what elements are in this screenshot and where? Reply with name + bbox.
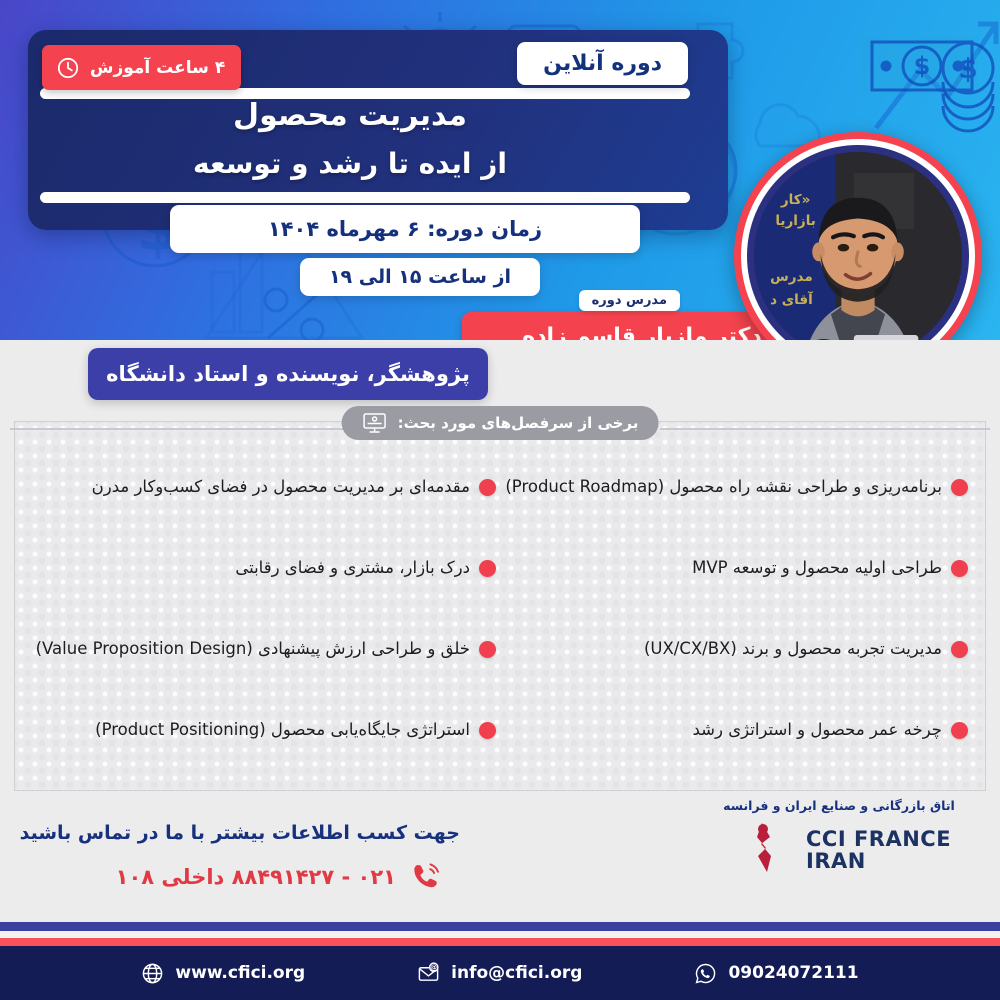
- bullet-dot-icon: [951, 641, 968, 658]
- topic-item: درک بازار، مشتری و فضای رقابتی: [32, 528, 500, 609]
- portrait-illustration: «کار بازاریا مدرس آقای د: [754, 152, 962, 340]
- bullet-dot-icon: [479, 560, 496, 577]
- whatsapp-number: 09024072111: [728, 963, 858, 983]
- svg-text:آقای د: آقای د: [770, 291, 813, 308]
- topic-item: طراحی اولیه محصول و توسعه MVP: [500, 528, 968, 609]
- svg-text:$: $: [958, 52, 977, 85]
- topic-item: خلق و طراحی ارزش پیشنهادی (Value Proposi…: [32, 609, 500, 690]
- contact-phone: ۰۲۱ - ۸۸۴۹۱۴۲۷ داخلی ۱۰۸: [116, 862, 440, 892]
- divider-bottom: [40, 192, 690, 203]
- phone-number: ۰۲۱ - ۸۸۴۹۱۴۲۷ داخلی ۱۰۸: [116, 865, 396, 889]
- instructor-credentials: پژوهشگر، نویسنده و استاد دانشگاه: [88, 348, 488, 400]
- footer-whatsapp[interactable]: 09024072111: [694, 962, 858, 985]
- topic-item: مقدمه‌ای بر مدیریت محصول در فضای کسب‌وکا…: [32, 447, 500, 528]
- course-date: زمان دوره: ۶ مهرماه ۱۴۰۴: [170, 205, 640, 253]
- phone-call-icon: [410, 862, 440, 892]
- footer-email[interactable]: @ info@cfici.org: [417, 962, 582, 985]
- bullet-dot-icon: [479, 722, 496, 739]
- topics-heading-label: برخی از سرفصل‌های مورد بحث:: [398, 414, 639, 432]
- portrait-ring-white: «کار بازاریا مدرس آقای د: [741, 139, 975, 340]
- svg-text:مدرس: مدرس: [770, 269, 813, 285]
- topic-item: برنامه‌ریزی و طراحی نقشه راه محصول (Prod…: [500, 447, 968, 528]
- footer-website[interactable]: www.cfici.org: [141, 962, 305, 985]
- topic-item: چرخه عمر محصول و استراتژی رشد: [500, 690, 968, 771]
- cci-logo-line2: IRAN: [806, 849, 866, 873]
- poster-footer: www.cfici.org @ info@cfici.org 090240: [0, 946, 1000, 1000]
- topic-label: استراتژی جایگاه‌یابی محصول (Product Posi…: [95, 719, 470, 741]
- course-title-block: مدیریت محصول از ایده تا رشد و توسعه: [0, 98, 700, 180]
- organization-name-fa: اتاق بازرگانی و صنایع ایران و فرانسه: [714, 798, 964, 813]
- poster-header: $ $ $ ۴ ساعت آموزش: [0, 0, 1000, 340]
- stripe-blue: [0, 922, 1000, 931]
- topic-label: خلق و طراحی ارزش پیشنهادی (Value Proposi…: [36, 638, 470, 660]
- bullet-dot-icon: [479, 641, 496, 658]
- flag-stripes: [0, 916, 1000, 946]
- cci-logo-line1: CCI FRANCE: [806, 827, 951, 851]
- duration-badge: ۴ ساعت آموزش: [42, 45, 241, 90]
- duration-label: ۴ ساعت آموزش: [90, 58, 225, 78]
- cci-logo-row: CCI FRANCE IRAN: [714, 819, 964, 881]
- topic-label: درک بازار، مشتری و فضای رقابتی: [235, 557, 470, 579]
- svg-text:$: $: [914, 52, 931, 80]
- whatsapp-icon: [694, 962, 717, 985]
- presentation-screen-icon: [362, 412, 388, 434]
- bullet-dot-icon: [479, 479, 496, 496]
- topic-item: مدیریت تجربه محصول و برند (UX/CX/BX): [500, 609, 968, 690]
- svg-text:@: @: [431, 963, 438, 971]
- topics-heading: برخی از سرفصل‌های مورد بحث:: [342, 406, 659, 440]
- email-text: info@cfici.org: [451, 963, 582, 983]
- online-badge: دوره آنلاین: [517, 42, 688, 85]
- portrait-ring-navy: «کار بازاریا مدرس آقای د: [747, 145, 969, 340]
- organization-logo-block: اتاق بازرگانی و صنایع ایران و فرانسه CCI…: [714, 798, 964, 881]
- course-time: از ساعت ۱۵ الی ۱۹: [300, 258, 540, 296]
- stripe-white: [0, 931, 1000, 938]
- contact-cta: جهت کسب اطلاعات بیشتر با ما در تماس باشی…: [20, 822, 460, 844]
- topic-label: مدیریت تجربه محصول و برند (UX/CX/BX): [644, 638, 942, 660]
- svg-text:بازاریا: بازاریا: [775, 213, 816, 229]
- topics-grid: برنامه‌ریزی و طراحی نقشه راه محصول (Prod…: [14, 421, 986, 791]
- cci-logo-text: CCI FRANCE IRAN: [806, 828, 951, 872]
- svg-text:«کار: «کار: [780, 192, 810, 208]
- instructor-label: مدرس دوره: [579, 290, 680, 311]
- website-text: www.cfici.org: [175, 963, 305, 983]
- topic-label: طراحی اولیه محصول و توسعه MVP: [692, 557, 942, 579]
- course-poster: $ $ $ ۴ ساعت آموزش: [0, 0, 1000, 1000]
- bullet-dot-icon: [951, 560, 968, 577]
- course-title-line2: از ایده تا رشد و توسعه: [0, 147, 700, 180]
- portrait-photo: «کار بازاریا مدرس آقای د: [754, 152, 962, 340]
- stripe-red: [0, 938, 1000, 946]
- topic-label: چرخه عمر محصول و استراتژی رشد: [693, 719, 942, 741]
- topic-label: برنامه‌ریزی و طراحی نقشه راه محصول (Prod…: [505, 476, 942, 498]
- globe-icon: [141, 962, 164, 985]
- course-title-line1: مدیریت محصول: [0, 98, 700, 133]
- bullet-dot-icon: [951, 722, 968, 739]
- topic-item: استراتژی جایگاه‌یابی محصول (Product Posi…: [32, 690, 500, 771]
- clock-icon: [56, 56, 80, 80]
- bullet-dot-icon: [951, 479, 968, 496]
- cci-france-iran-logo-icon: [714, 819, 796, 881]
- envelope-at-icon: @: [417, 962, 440, 985]
- topic-label: مقدمه‌ای بر مدیریت محصول در فضای کسب‌وکا…: [92, 476, 470, 498]
